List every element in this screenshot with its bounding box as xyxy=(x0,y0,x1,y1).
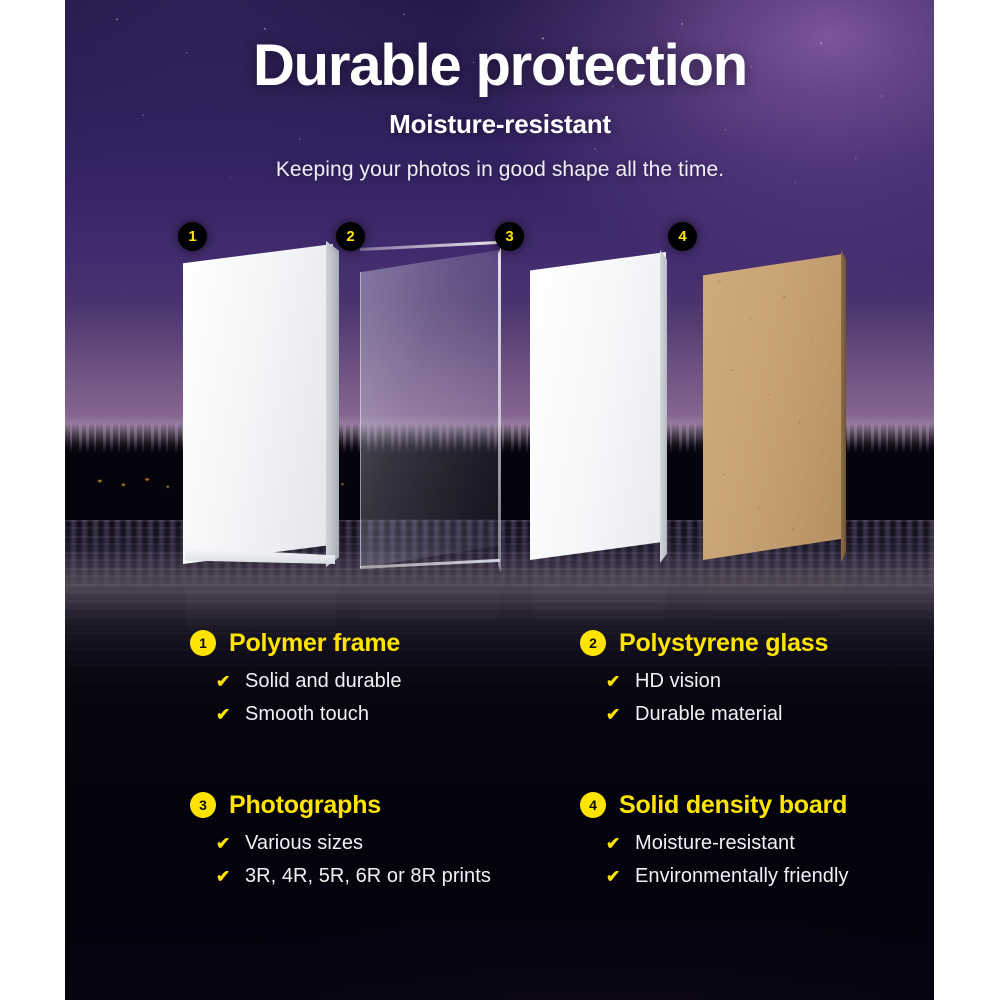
bullet-text: Moisture-resistant xyxy=(635,831,795,856)
product-infographic: Durable protection Moisture-resistant Ke… xyxy=(0,0,1000,1000)
list-item: ✔ Moisture-resistant xyxy=(606,831,980,856)
check-icon: ✔ xyxy=(216,706,231,723)
bullet-text: Solid and durable xyxy=(245,669,402,694)
glass-right-highlight xyxy=(498,247,501,572)
feature-title-4: Solid density board xyxy=(619,793,847,818)
mat-reflection xyxy=(532,560,666,626)
diagram-badge-3: 3 xyxy=(495,222,524,251)
check-icon: ✔ xyxy=(606,868,621,885)
mat-board-face xyxy=(530,252,666,560)
check-icon: ✔ xyxy=(606,706,621,723)
page-title: Durable protection xyxy=(0,36,1000,97)
feature-3-bullets: ✔ Various sizes ✔ 3R, 4R, 5R, 6R or 8R p… xyxy=(190,831,590,889)
bullet-text: Environmentally friendly xyxy=(635,864,849,889)
feature-4-bullets: ✔ Moisture-resistant ✔ Environmentally f… xyxy=(580,831,980,889)
check-icon: ✔ xyxy=(216,835,231,852)
check-icon: ✔ xyxy=(606,673,621,690)
list-item: ✔ Environmentally friendly xyxy=(606,864,980,889)
feature-badge-4: 4 xyxy=(580,792,606,818)
diagram-badge-1: 1 xyxy=(178,222,207,251)
list-item: ✔ Smooth touch xyxy=(216,702,590,727)
check-icon: ✔ xyxy=(216,868,231,885)
list-item: ✔ 3R, 4R, 5R, 6R or 8R prints xyxy=(216,864,590,889)
bullet-text: Smooth touch xyxy=(245,702,369,727)
feature-badge-1: 1 xyxy=(190,630,216,656)
polystyrene-glass-panel xyxy=(360,250,500,568)
diagram-badge-2: 2 xyxy=(336,222,365,251)
bullet-text: Durable material xyxy=(635,702,783,727)
feature-solid-density-board: 4 Solid density board ✔ Moisture-resista… xyxy=(580,792,980,897)
feature-polymer-frame: 1 Polymer frame ✔ Solid and durable ✔ Sm… xyxy=(190,630,590,735)
page-tagline: Keeping your photos in good shape all th… xyxy=(0,158,1000,182)
list-item: ✔ Solid and durable xyxy=(216,669,590,694)
exploded-parts-diagram: 1 2 3 4 xyxy=(0,200,1000,620)
feature-3-heading: 3 Photographs xyxy=(190,792,590,818)
feature-1-bullets: ✔ Solid and durable ✔ Smooth touch xyxy=(190,669,590,727)
bullet-text: Various sizes xyxy=(245,831,363,856)
glass-reflection xyxy=(360,568,500,630)
feature-list: 1 Polymer frame ✔ Solid and durable ✔ Sm… xyxy=(0,630,1000,950)
page-subtitle: Moisture-resistant xyxy=(0,109,1000,140)
glass-top-highlight xyxy=(360,241,500,251)
feature-2-bullets: ✔ HD vision ✔ Durable material xyxy=(580,669,980,727)
feature-4-heading: 4 Solid density board xyxy=(580,792,980,818)
feature-title-2: Polystyrene glass xyxy=(619,631,828,656)
feature-1-heading: 1 Polymer frame xyxy=(190,630,590,656)
bullet-text: 3R, 4R, 5R, 6R or 8R prints xyxy=(245,864,491,889)
check-icon: ✔ xyxy=(216,673,231,690)
feature-title-1: Polymer frame xyxy=(229,631,400,656)
header-block: Durable protection Moisture-resistant Ke… xyxy=(0,0,1000,182)
board-reflection xyxy=(705,560,843,626)
mdf-board-face xyxy=(703,254,843,560)
feature-badge-3: 3 xyxy=(190,792,216,818)
feature-photographs: 3 Photographs ✔ Various sizes ✔ 3R, 4R, … xyxy=(190,792,590,897)
polymer-frame-depth-edge xyxy=(326,241,339,567)
feature-badge-2: 2 xyxy=(580,630,606,656)
feature-polystyrene-glass: 2 Polystyrene glass ✔ HD vision ✔ Durabl… xyxy=(580,630,980,735)
check-icon: ✔ xyxy=(606,835,621,852)
list-item: ✔ Durable material xyxy=(606,702,980,727)
feature-title-3: Photographs xyxy=(229,793,381,818)
mdf-board-depth-edge xyxy=(841,250,846,562)
list-item: ✔ HD vision xyxy=(606,669,980,694)
polymer-frame-face xyxy=(183,244,333,564)
list-item: ✔ Various sizes xyxy=(216,831,590,856)
diagram-badge-4: 4 xyxy=(668,222,697,251)
bullet-text: HD vision xyxy=(635,669,721,694)
mat-board-depth-edge xyxy=(660,250,667,563)
feature-2-heading: 2 Polystyrene glass xyxy=(580,630,980,656)
